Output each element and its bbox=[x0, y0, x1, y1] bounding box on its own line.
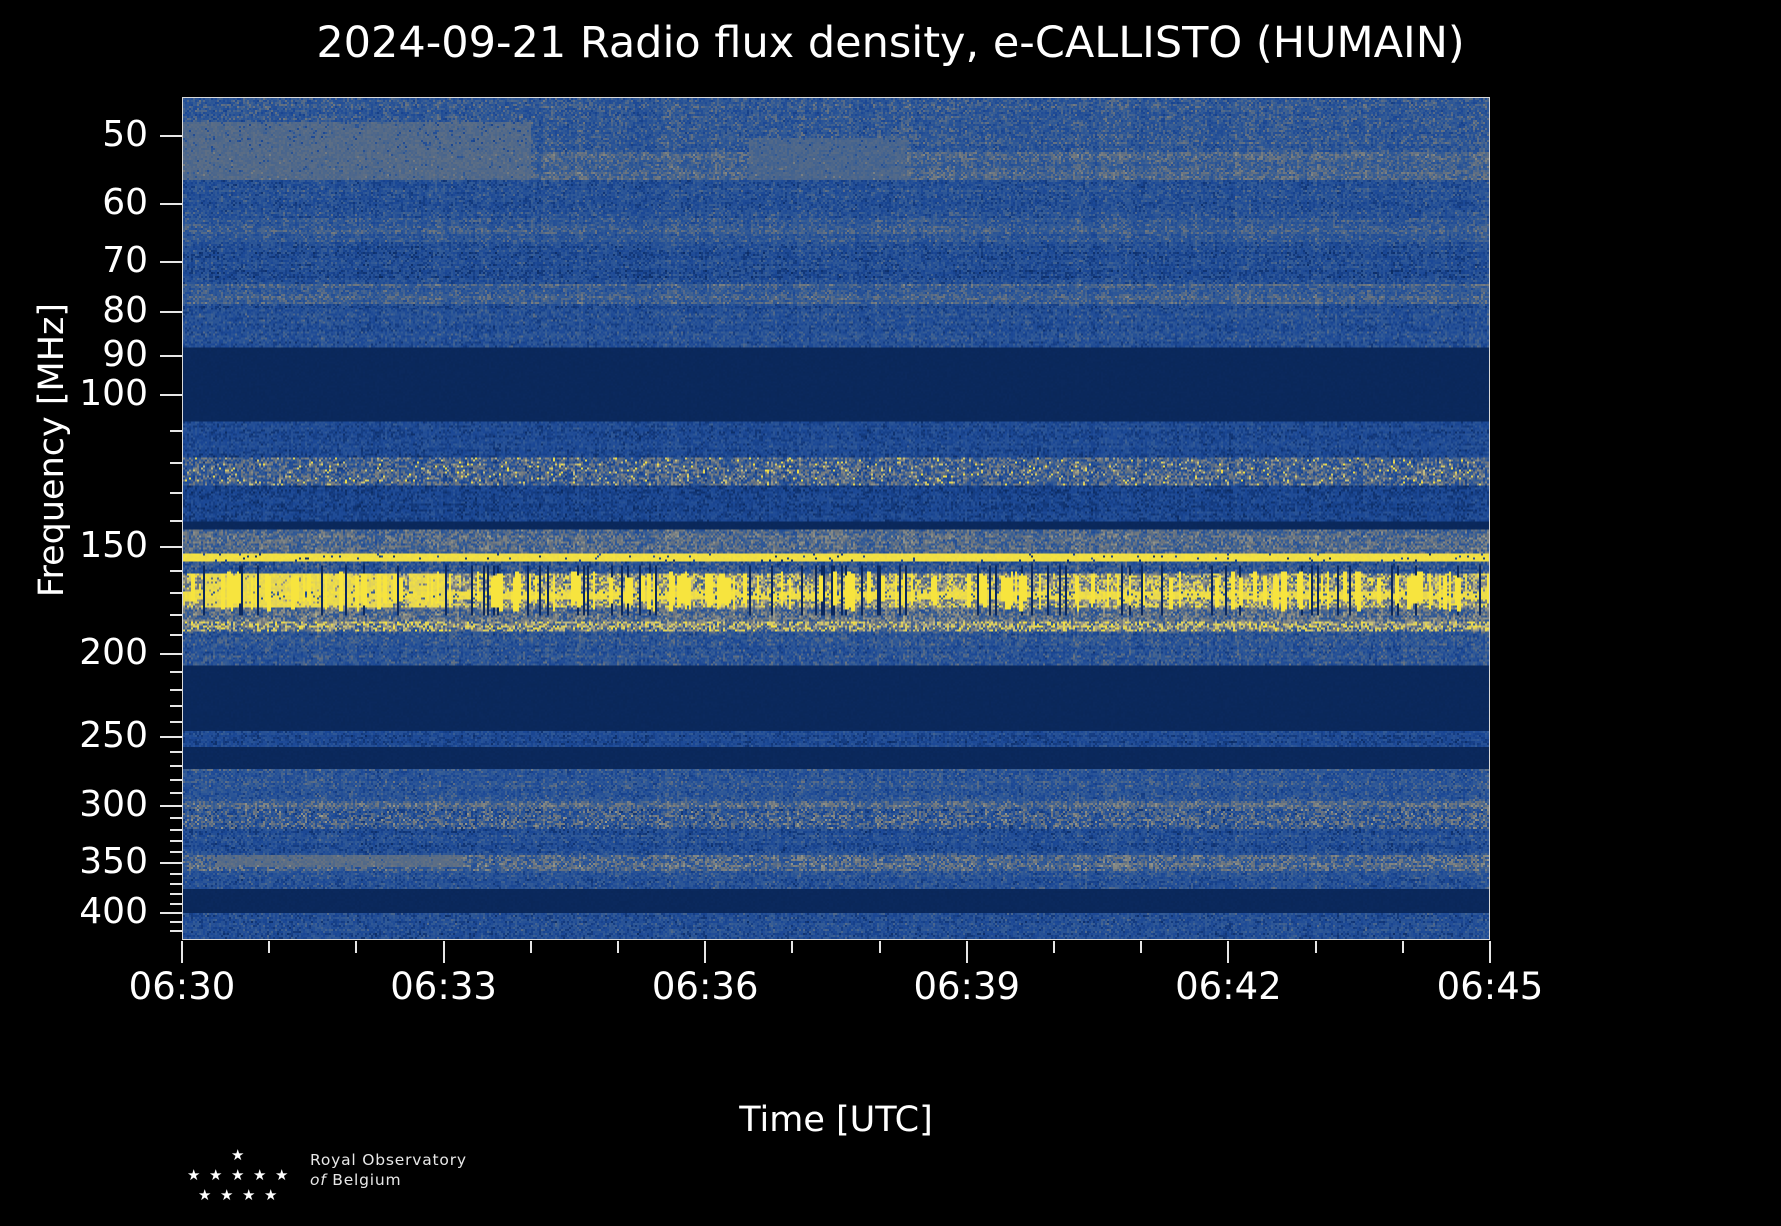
spectrogram-plot-area bbox=[182, 97, 1490, 940]
y-tick-minor bbox=[170, 721, 182, 723]
star-icon: ★ bbox=[231, 1168, 244, 1183]
x-tick-minor bbox=[617, 941, 619, 953]
x-tick-label: 06:39 bbox=[867, 968, 1067, 1005]
y-tick-major bbox=[160, 203, 182, 205]
y-tick-minor bbox=[170, 765, 182, 767]
logo-of-word: of bbox=[310, 1171, 327, 1189]
y-tick-label: 50 bbox=[0, 117, 148, 153]
x-tick-minor bbox=[1402, 941, 1404, 953]
y-tick-minor bbox=[170, 817, 182, 819]
y-tick-minor bbox=[170, 921, 182, 923]
x-tick-minor bbox=[879, 941, 881, 953]
stars-icon: ★★★★★★★★★★ bbox=[176, 1146, 300, 1208]
y-tick-minor bbox=[170, 570, 182, 572]
x-tick-minor bbox=[268, 941, 270, 953]
y-tick-minor bbox=[170, 689, 182, 691]
y-tick-major bbox=[160, 736, 182, 738]
star-icon: ★ bbox=[253, 1168, 266, 1183]
y-tick-major bbox=[160, 912, 182, 914]
y-tick-label: 70 bbox=[0, 243, 148, 279]
y-tick-minor bbox=[170, 634, 182, 636]
x-tick-label: 06:45 bbox=[1390, 968, 1590, 1005]
y-tick-major bbox=[160, 862, 182, 864]
x-tick-major bbox=[1227, 941, 1229, 963]
y-tick-label: 150 bbox=[0, 528, 148, 564]
y-tick-label: 400 bbox=[0, 894, 148, 930]
y-tick-minor bbox=[170, 893, 182, 895]
x-tick-minor bbox=[1315, 941, 1317, 953]
y-tick-minor bbox=[170, 751, 182, 753]
x-tick-minor bbox=[530, 941, 532, 953]
y-tick-major bbox=[160, 394, 182, 396]
x-tick-label: 06:33 bbox=[344, 968, 544, 1005]
x-axis-label: Time [UTC] bbox=[182, 1100, 1490, 1140]
y-tick-minor bbox=[170, 671, 182, 673]
x-tick-label: 06:30 bbox=[82, 968, 282, 1005]
star-icon: ★ bbox=[187, 1168, 200, 1183]
logo-line-1: Royal Observatory bbox=[310, 1150, 510, 1170]
y-tick-label: 250 bbox=[0, 718, 148, 754]
y-tick-minor bbox=[170, 462, 182, 464]
x-tick-major bbox=[1489, 941, 1491, 963]
y-tick-minor bbox=[170, 520, 182, 522]
star-icon: ★ bbox=[220, 1188, 233, 1203]
x-tick-minor bbox=[1140, 941, 1142, 953]
y-tick-minor bbox=[170, 829, 182, 831]
y-tick-minor bbox=[170, 492, 182, 494]
y-tick-label: 300 bbox=[0, 787, 148, 823]
y-tick-minor bbox=[170, 592, 182, 594]
y-tick-minor bbox=[170, 792, 182, 794]
y-tick-label: 200 bbox=[0, 635, 148, 671]
logo-text: Royal Observatory of Belgium bbox=[310, 1150, 510, 1190]
y-tick-label: 350 bbox=[0, 844, 148, 880]
y-tick-minor bbox=[170, 873, 182, 875]
x-tick-major bbox=[181, 941, 183, 963]
y-tick-major bbox=[160, 135, 182, 137]
x-tick-major bbox=[704, 941, 706, 963]
y-tick-major bbox=[160, 546, 182, 548]
x-tick-minor bbox=[355, 941, 357, 953]
chart-title: 2024-09-21 Radio flux density, e-CALLIST… bbox=[0, 18, 1781, 68]
star-icon: ★ bbox=[264, 1188, 277, 1203]
y-tick-label: 80 bbox=[0, 293, 148, 329]
y-tick-label: 90 bbox=[0, 337, 148, 373]
y-tick-minor bbox=[170, 430, 182, 432]
y-tick-major bbox=[160, 355, 182, 357]
y-tick-major bbox=[160, 805, 182, 807]
y-tick-minor bbox=[170, 705, 182, 707]
y-tick-minor bbox=[170, 903, 182, 905]
y-tick-label: 60 bbox=[0, 185, 148, 221]
y-tick-minor bbox=[170, 840, 182, 842]
royal-observatory-logo: ★★★★★★★★★★ Royal Observatory of Belgium bbox=[176, 1146, 506, 1216]
logo-belgium-word: Belgium bbox=[332, 1171, 401, 1189]
y-tick-minor bbox=[170, 883, 182, 885]
x-tick-minor bbox=[1053, 941, 1055, 953]
x-tick-label: 06:36 bbox=[605, 968, 805, 1005]
x-tick-label: 06:42 bbox=[1128, 968, 1328, 1005]
figure-root: 2024-09-21 Radio flux density, e-CALLIST… bbox=[0, 0, 1781, 1226]
y-tick-major bbox=[160, 311, 182, 313]
spectrogram-canvas bbox=[183, 98, 1490, 940]
y-tick-label: 100 bbox=[0, 376, 148, 412]
y-tick-minor bbox=[170, 930, 182, 932]
y-tick-minor bbox=[170, 851, 182, 853]
logo-line-2: of Belgium bbox=[310, 1170, 510, 1190]
y-tick-major bbox=[160, 653, 182, 655]
star-icon: ★ bbox=[231, 1148, 244, 1163]
star-icon: ★ bbox=[275, 1168, 288, 1183]
y-tick-minor bbox=[170, 779, 182, 781]
x-tick-minor bbox=[791, 941, 793, 953]
x-tick-major bbox=[966, 941, 968, 963]
star-icon: ★ bbox=[242, 1188, 255, 1203]
star-icon: ★ bbox=[209, 1168, 222, 1183]
star-icon: ★ bbox=[198, 1188, 211, 1203]
x-tick-major bbox=[443, 941, 445, 963]
y-tick-major bbox=[160, 261, 182, 263]
y-tick-minor bbox=[170, 614, 182, 616]
